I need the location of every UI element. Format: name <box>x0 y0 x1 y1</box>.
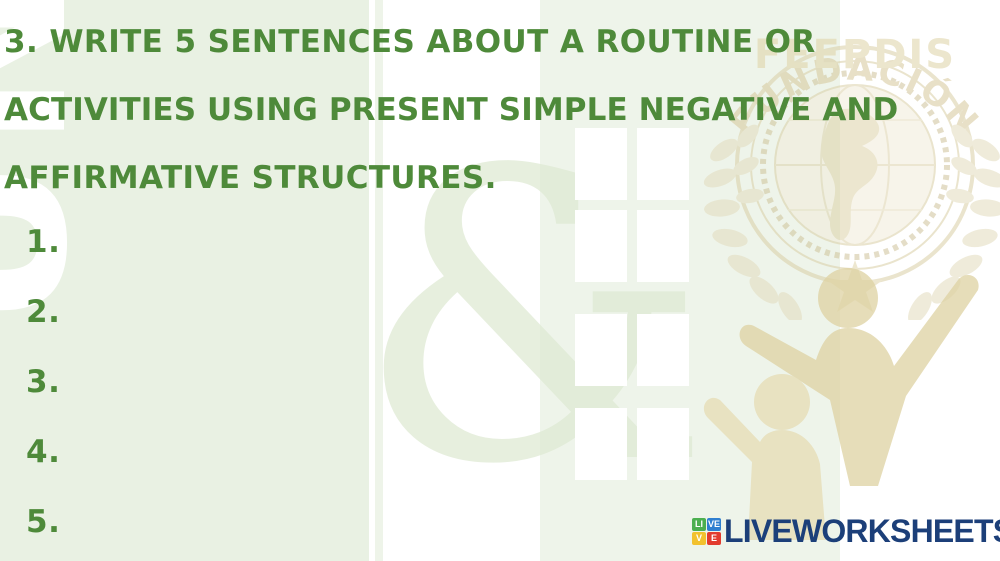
answer-item-3[interactable]: 3. <box>26 347 326 417</box>
instruction-line-2: ACTIVITIES USING PRESENT SIMPLE NEGATIVE… <box>4 76 996 144</box>
worksheet-page: & UNIT 1 <box>0 0 1000 561</box>
answer-item-4[interactable]: 4. <box>26 417 326 487</box>
answer-item-1[interactable]: 1. <box>26 207 326 277</box>
logo-cell-top-left: LI <box>692 518 706 531</box>
logo-cell-bottom-right: E <box>707 532 721 545</box>
liveworksheets-wordmark: LIVEWORKSHEETS <box>724 515 1000 547</box>
exercise-instruction: 3. WRITE 5 SENTENCES ABOUT A ROUTINE OR … <box>4 8 996 212</box>
instruction-line-3: AFFIRMATIVE STRUCTURES. <box>4 144 996 212</box>
answer-item-2[interactable]: 2. <box>26 277 326 347</box>
logo-cell-top-right: VE <box>707 518 721 531</box>
answer-list: 1. 2. 3. 4. 5. <box>26 207 326 557</box>
instruction-line-1: 3. WRITE 5 SENTENCES ABOUT A ROUTINE OR <box>4 8 996 76</box>
content-layer: 3. WRITE 5 SENTENCES ABOUT A ROUTINE OR … <box>0 0 1000 561</box>
logo-cell-bottom-left: V <box>692 532 706 545</box>
liveworksheets-logo[interactable]: LI VE V E LIVEWORKSHEETS <box>692 513 1000 549</box>
answer-item-5[interactable]: 5. <box>26 487 326 557</box>
liveworksheets-mark-icon: LI VE V E <box>692 518 721 545</box>
